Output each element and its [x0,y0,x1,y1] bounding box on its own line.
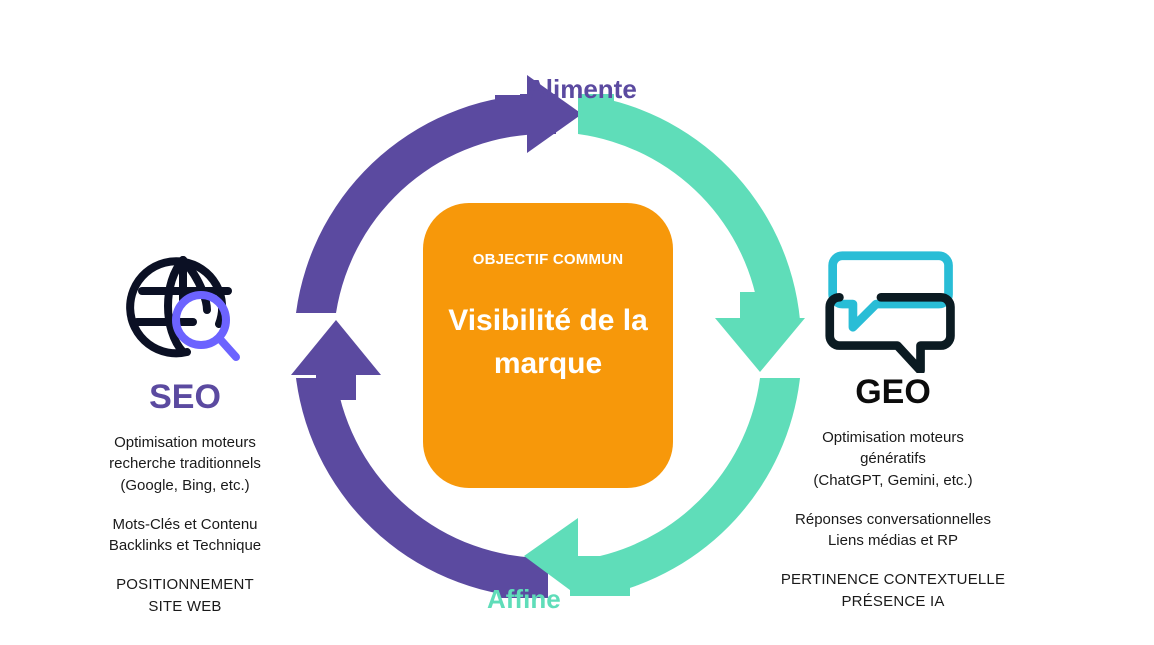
seo-definition: Optimisation moteurs recherche tradition… [109,432,261,496]
geo-levers: Réponses conversationnelles Liens médias… [795,509,991,552]
seo-definition-line-3: (Google, Bing, etc.) [109,475,261,496]
diagram-canvas: OBJECTIF COMMUN Visibilité de la marque … [0,0,1154,645]
geo-levers-line-1: Réponses conversationnelles [795,509,991,530]
geo-levers-line-2: Liens médias et RP [795,530,991,551]
geo-outcome-line-1: PERTINENCE CONTEXTUELLE [781,569,1005,590]
geo-definition-line-3: (ChatGPT, Gemini, etc.) [813,470,972,491]
geo-outcome-line-2: PRÉSENCE IA [781,591,1005,612]
seo-title: SEO [149,380,221,414]
seo-outcome: POSITIONNEMENT SITE WEB [116,574,254,617]
geo-outcome: PERTINENCE CONTEXTUELLE PRÉSENCE IA [781,569,1005,612]
objective-eyebrow: OBJECTIF COMMUN [473,251,624,268]
seo-outcome-line-1: POSITIONNEMENT [116,574,254,595]
cycle-label-alimente: Alimente [527,74,637,105]
seo-levers-line-1: Mots-Clés et Contenu [109,514,261,535]
geo-panel: GEO Optimisation moteurs génératifs (Cha… [748,238,1038,612]
cycle-label-affine: Affine [487,584,561,615]
geo-definition: Optimisation moteurs génératifs (ChatGPT… [813,427,972,491]
globe-search-icon [115,238,255,378]
objective-headline: Visibilité de la marque [441,300,656,385]
geo-definition-line-1: Optimisation moteurs [813,427,972,448]
chat-bubbles-icon [823,238,963,373]
seo-definition-line-2: recherche traditionnels [109,453,261,474]
objective-card: OBJECTIF COMMUN Visibilité de la marque [423,203,673,488]
seo-outcome-line-2: SITE WEB [116,596,254,617]
seo-panel: SEO Optimisation moteurs recherche tradi… [40,238,330,617]
seo-definition-line-1: Optimisation moteurs [109,432,261,453]
geo-definition-line-2: génératifs [813,448,972,469]
seo-levers: Mots-Clés et Contenu Backlinks et Techni… [109,514,261,557]
seo-levers-line-2: Backlinks et Technique [109,535,261,556]
geo-title: GEO [855,375,931,409]
